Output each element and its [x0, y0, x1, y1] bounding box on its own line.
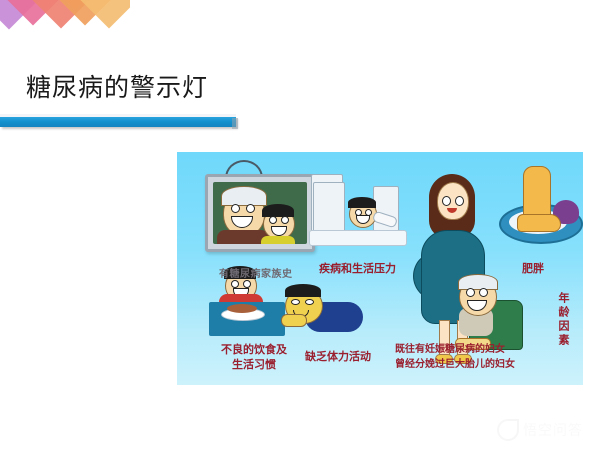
elder-hair	[221, 186, 267, 206]
elderly-man-hair	[458, 274, 498, 290]
label-poor-diet: 不良的饮食及 生活习惯	[221, 342, 287, 372]
label-poor-diet-line2: 生活习惯	[221, 357, 287, 372]
desk-surface	[309, 230, 407, 246]
eating-man-eye	[231, 280, 239, 288]
lying-man-arm	[281, 314, 307, 327]
watermark-text: 悟空问答	[523, 420, 583, 440]
food-portion	[227, 304, 257, 313]
child-eye	[269, 216, 277, 224]
lying-man-hair	[285, 284, 321, 297]
label-lack-activity: 缺乏体力活动	[305, 348, 371, 364]
framed-portrait-figure	[205, 174, 315, 252]
label-poor-diet-line1: 不良的饮食及	[221, 342, 287, 357]
elder-eye	[231, 204, 240, 213]
title-underline-cap	[232, 118, 238, 129]
lying-man-eye	[291, 299, 300, 305]
title-underline-bar	[0, 117, 236, 127]
label-family-history: 有糖尿病家族史	[219, 265, 293, 280]
slide-title: 糖尿病的警示灯	[26, 73, 208, 103]
pregnant-woman-eye	[455, 196, 464, 206]
slide-canvas: 糖尿病的警示灯	[0, 0, 600, 450]
label-gdm-line1: 既往有妊娠糖尿病的妇女	[395, 342, 515, 357]
diabetes-risk-illustration: 有糖尿病家族史 疾病和生活压力 不良的饮食及 生活习惯 缺乏体力活动 既往有妊娠…	[177, 152, 583, 385]
portrait-photo	[213, 182, 307, 244]
watermark: 悟空问答	[497, 419, 595, 441]
label-illness-stress: 疾病和生活压力	[319, 260, 396, 276]
elder-eye	[246, 204, 255, 213]
stressed-man-hair	[348, 197, 376, 208]
title-underline	[0, 114, 240, 130]
paper-stack	[313, 182, 345, 232]
foot-figure	[517, 214, 561, 232]
lying-man-eye	[305, 299, 314, 305]
eating-man-eye	[243, 280, 251, 288]
child-body	[261, 236, 295, 244]
elderly-man-eye	[466, 288, 475, 297]
label-obesity: 肥胖	[522, 260, 544, 276]
label-gestational-diabetes: 既往有妊娠糖尿病的妇女 曾经分娩过巨大胎儿的妇女	[395, 342, 515, 372]
label-age-factor: 年龄因素	[557, 292, 571, 348]
decorative-diamond-ribbon	[0, 0, 130, 48]
child-hair	[262, 204, 294, 217]
label-gdm-line2: 曾经分娩过巨大胎儿的妇女	[395, 357, 515, 372]
watermark-logo-icon	[497, 419, 519, 441]
child-eye	[281, 216, 289, 224]
pregnant-woman-eye	[442, 196, 451, 206]
elderly-man-eye	[479, 288, 488, 297]
